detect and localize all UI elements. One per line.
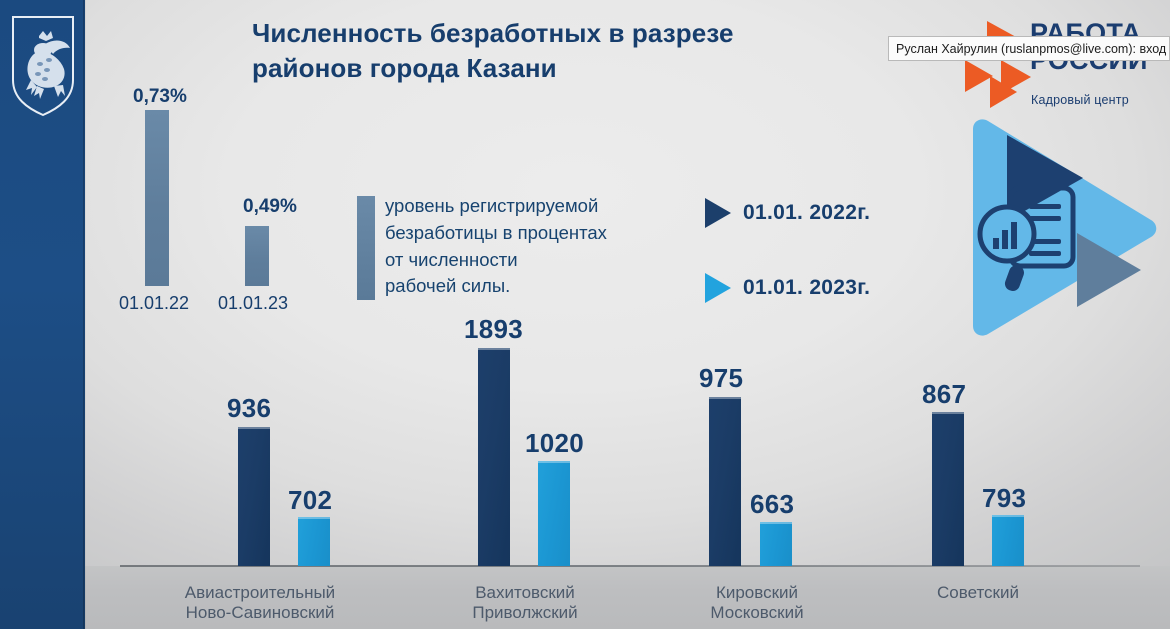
- chart-baseline: [120, 565, 1140, 567]
- bar-2022-district-1: [478, 348, 510, 566]
- legend-label-2023: 01.01. 2023г.: [743, 276, 870, 300]
- page-title-line1: Численность безработных в разрезе: [252, 16, 782, 51]
- bar-value-2023-2: 663: [750, 489, 794, 520]
- district-label-3-line1: Советский: [898, 583, 1058, 603]
- legend-desc-line2: безработицы в процентах: [385, 220, 660, 247]
- bar-2022-district-2: [709, 397, 741, 566]
- play-triangle-icon-2023: [705, 273, 731, 303]
- rate-bar-2022: [145, 110, 169, 286]
- bar-value-2022-2: 975: [699, 363, 743, 394]
- legend-item-2022: 01.01. 2022г.: [705, 198, 870, 228]
- bar-2022-district-0: [238, 427, 270, 566]
- rate-bar-2023: [245, 226, 269, 286]
- district-label-2-line1: Кировский: [677, 583, 837, 603]
- district-label-3: Советский: [898, 583, 1058, 603]
- district-label-1-line1: Вахитовский: [445, 583, 605, 603]
- rate-category-2022: 01.01.22: [119, 293, 189, 314]
- bar-value-2023-1: 1020: [525, 428, 584, 459]
- kazan-coat-of-arms-icon: [9, 14, 77, 118]
- legend-desc-line3: от численности: [385, 247, 660, 274]
- district-label-0-line1: Авиастроительный: [180, 583, 340, 603]
- brand-subtitle: Кадровый центр: [1031, 93, 1170, 107]
- sidebar-edge: [83, 0, 86, 629]
- bar-value-2022-0: 936: [227, 393, 271, 424]
- bar-2023-district-2: [760, 522, 792, 566]
- bar-2022-district-3: [932, 412, 964, 566]
- legend-rate-swatch: [357, 196, 375, 300]
- page-title: Численность безработных в разрезе районо…: [252, 16, 782, 85]
- district-label-0-line2: Ново-Савиновский: [180, 603, 340, 623]
- district-label-2: Кировский Московский: [677, 583, 837, 623]
- analytics-logo-graphic: [955, 115, 1170, 340]
- page-title-line2: районов города Казани: [252, 51, 782, 86]
- district-label-1-line2: Приволжский: [445, 603, 605, 623]
- bar-value-2023-0: 702: [288, 485, 332, 516]
- legend-desc-line4: рабочей силы.: [385, 273, 660, 300]
- legend-item-2023: 01.01. 2023г.: [705, 273, 870, 303]
- play-triangle-icon-2022: [705, 198, 731, 228]
- bar-2023-district-1: [538, 461, 570, 566]
- district-label-1: Вахитовский Приволжский: [445, 583, 605, 623]
- legend-desc-line1: уровень регистрируемой: [385, 193, 660, 220]
- district-label-2-line2: Московский: [677, 603, 837, 623]
- rate-value-2023: 0,49%: [243, 196, 297, 218]
- legend-label-2022: 01.01. 2022г.: [743, 201, 870, 225]
- toast-text: Руслан Хайрулин (ruslanpmos@live.com): в…: [896, 42, 1170, 56]
- bar-value-2023-3: 793: [982, 483, 1026, 514]
- bar-value-2022-1: 1893: [464, 314, 523, 345]
- bar-2023-district-0: [298, 517, 330, 566]
- district-label-0: Авиастроительный Ново-Савиновский: [180, 583, 340, 623]
- bar-2023-district-3: [992, 515, 1024, 566]
- rate-value-2022: 0,73%: [133, 86, 187, 108]
- legend-rate-description: уровень регистрируемой безработицы в про…: [385, 193, 660, 300]
- rate-category-2023: 01.01.23: [218, 293, 288, 314]
- logo-triangle-2-icon: [965, 60, 993, 92]
- bar-value-2022-3: 867: [922, 379, 966, 410]
- slide-canvas: Численность безработных в разрезе районо…: [0, 0, 1170, 629]
- login-toast-notification[interactable]: Руслан Хайрулин (ruslanpmos@live.com): в…: [888, 36, 1170, 61]
